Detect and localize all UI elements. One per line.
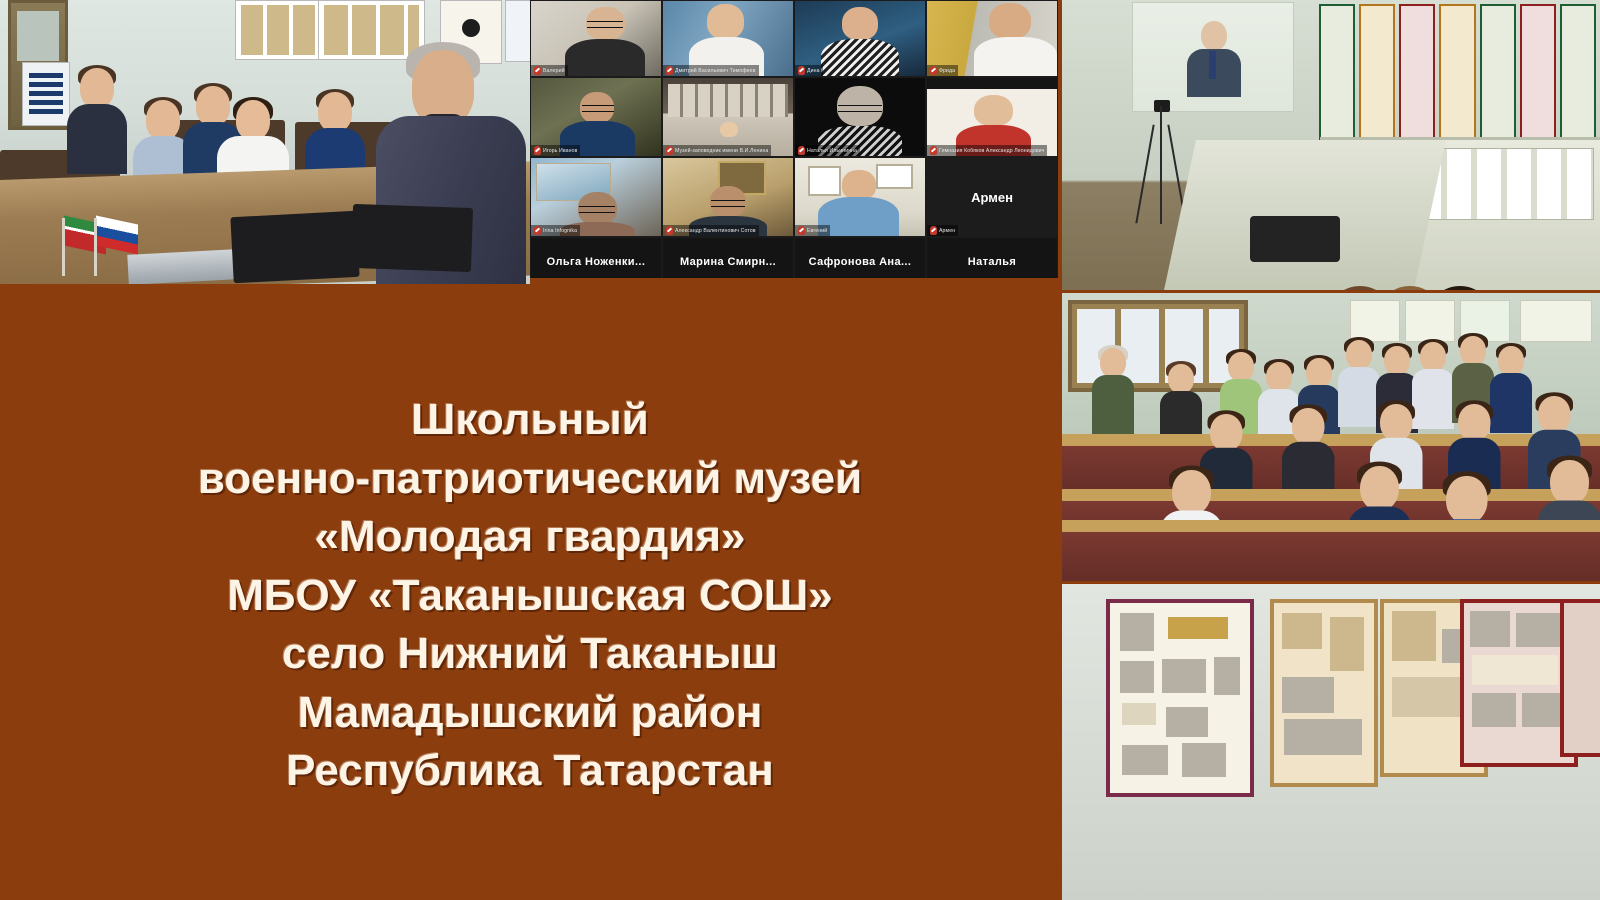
participant-placeholder-name: Сафронова Ана...: [795, 238, 925, 278]
video-tile[interactable]: Музей-заповедник имени В.И.Ленина: [663, 78, 793, 156]
photo-divider: [1060, 290, 1600, 293]
photo-divider: [1060, 581, 1600, 584]
museum-display-boards: [1315, 0, 1600, 150]
tripod: [1160, 106, 1162, 224]
open-book: [127, 249, 238, 284]
participant-name: Наталья Ильинична: [807, 148, 857, 154]
title-line-4: МБОУ «Таканышская СОШ»: [227, 567, 833, 626]
russia-flag: [92, 218, 138, 276]
participant-name-badge: Армен: [927, 225, 958, 236]
video-tile[interactable]: Гимназия Кобяков Александр Леонидович: [927, 78, 1057, 156]
participant-name: Армен: [939, 228, 955, 234]
video-tile[interactable]: Валерий: [531, 1, 661, 76]
participant-name-badge: Наталья Ильинична: [795, 145, 860, 156]
photo-classroom-with-students: [0, 0, 530, 284]
camera-on-tripod: [1154, 100, 1170, 112]
title-line-2: военно-патриотический музей: [198, 450, 862, 509]
title-panel: Школьный военно-патриотический музей «Мо…: [0, 284, 1060, 900]
projection-screen: [1132, 2, 1294, 112]
video-tile-camera-off[interactable]: Наталья: [927, 238, 1057, 278]
museum-exhibit-panel: [1560, 599, 1600, 757]
participant-name: Евгений: [807, 228, 827, 234]
participant-name-badge: Фрида: [927, 65, 958, 76]
museum-exhibit-panel: [1106, 599, 1254, 797]
video-tile[interactable]: Наталья Ильинична: [795, 78, 925, 156]
auditorium-seat-row: [1060, 528, 1600, 581]
mic-muted-icon: [798, 66, 805, 75]
wall-poster: [1405, 300, 1455, 342]
mic-muted-icon: [666, 146, 673, 155]
mic-muted-icon: [534, 146, 541, 155]
mic-muted-icon: [930, 146, 937, 155]
projector: [1250, 216, 1340, 262]
participant-name-badge: Гимназия Кобяков Александр Леонидович: [927, 145, 1047, 156]
video-tile-camera-off[interactable]: Сафронова Ана...: [795, 238, 925, 278]
participant-name: Валерий: [543, 68, 565, 74]
participant-name-badge: Дмитрий Васильевич Тимофеев: [663, 65, 759, 76]
presentation-slide: Валерий Дмитрий Васильевич Тимофеев Дина: [0, 0, 1600, 900]
photo-exhibit-panels: [1060, 583, 1600, 900]
title-line-5: село Нижний Таканыш: [282, 625, 778, 684]
mic-muted-icon: [798, 146, 805, 155]
participant-placeholder-name: Ольга Ноженки...: [531, 238, 661, 278]
mic-muted-icon: [534, 226, 541, 235]
video-tile-active-speaker[interactable]: Игорь Иванов: [531, 78, 661, 156]
participant-name-badge: Игорь Иванов: [531, 145, 580, 156]
participant-name: Александр Валентинович Сотов: [675, 228, 756, 234]
right-photo-column: [1060, 0, 1600, 900]
participant-name-badge: Музей-заповедник имени В.И.Ленина: [663, 145, 771, 156]
video-tile[interactable]: Александр Валентинович Сотов: [663, 158, 793, 236]
participant-name-badge: Александр Валентинович Сотов: [663, 225, 759, 236]
participant-name: Irina Infognika: [543, 228, 577, 234]
video-tile[interactable]: Евгений: [795, 158, 925, 236]
video-tile-camera-off[interactable]: Марина Смирн...: [663, 238, 793, 278]
museum-exhibit-panel: [1270, 599, 1378, 787]
laptop: [230, 211, 359, 284]
video-tile-camera-off[interactable]: Ольга Ноженки...: [531, 238, 661, 278]
participant-name-badge: Евгений: [795, 225, 830, 236]
museum-table: [1164, 140, 1446, 290]
classroom-cabinet: [1068, 300, 1248, 392]
participant-name: Игорь Иванов: [543, 148, 577, 154]
participant-name: Музей-заповедник имени В.И.Ленина: [675, 148, 768, 154]
photo-museum-projection: [1060, 0, 1600, 290]
video-tile[interactable]: Дмитрий Васильевич Тимофеев: [663, 1, 793, 76]
participant-name: Гимназия Кобяков Александр Леонидович: [939, 148, 1044, 154]
laptop: [351, 204, 473, 272]
video-tile[interactable]: Дина: [795, 1, 925, 76]
mic-muted-icon: [930, 226, 937, 235]
student-figure: [62, 68, 132, 188]
video-tile[interactable]: Irina Infognika: [531, 158, 661, 236]
video-tile[interactable]: Фрида: [927, 1, 1057, 76]
mic-muted-icon: [798, 226, 805, 235]
title-line-7: Республика Татарстан: [286, 742, 774, 801]
participant-name-badge: Валерий: [531, 65, 568, 76]
title-line-6: Мамадышский район: [298, 684, 763, 743]
mic-muted-icon: [930, 66, 937, 75]
participant-name-badge: Дина: [795, 65, 823, 76]
participant-placeholder-name: Наталья: [927, 238, 1057, 278]
mic-muted-icon: [534, 66, 541, 75]
video-conference-grid[interactable]: Валерий Дмитрий Васильевич Тимофеев Дина: [530, 0, 1058, 278]
mic-muted-icon: [666, 66, 673, 75]
title-line-1: Школьный: [411, 391, 649, 450]
participant-placeholder-name: Марина Смирн...: [663, 238, 793, 278]
wall-poster: [1520, 300, 1592, 342]
participant-name-badge: Irina Infognika: [531, 225, 580, 236]
photo-auditorium-audience: [1060, 292, 1600, 581]
video-tile-camera-off[interactable]: Армен Армен: [927, 158, 1057, 236]
title-line-3: «Молодая гвардия»: [314, 508, 745, 567]
participant-name: Дина: [807, 68, 820, 74]
participant-name: Дмитрий Васильевич Тимофеев: [675, 68, 756, 74]
mic-muted-icon: [666, 226, 673, 235]
wall-poster: [1350, 300, 1400, 342]
participant-name: Фрида: [939, 68, 955, 74]
